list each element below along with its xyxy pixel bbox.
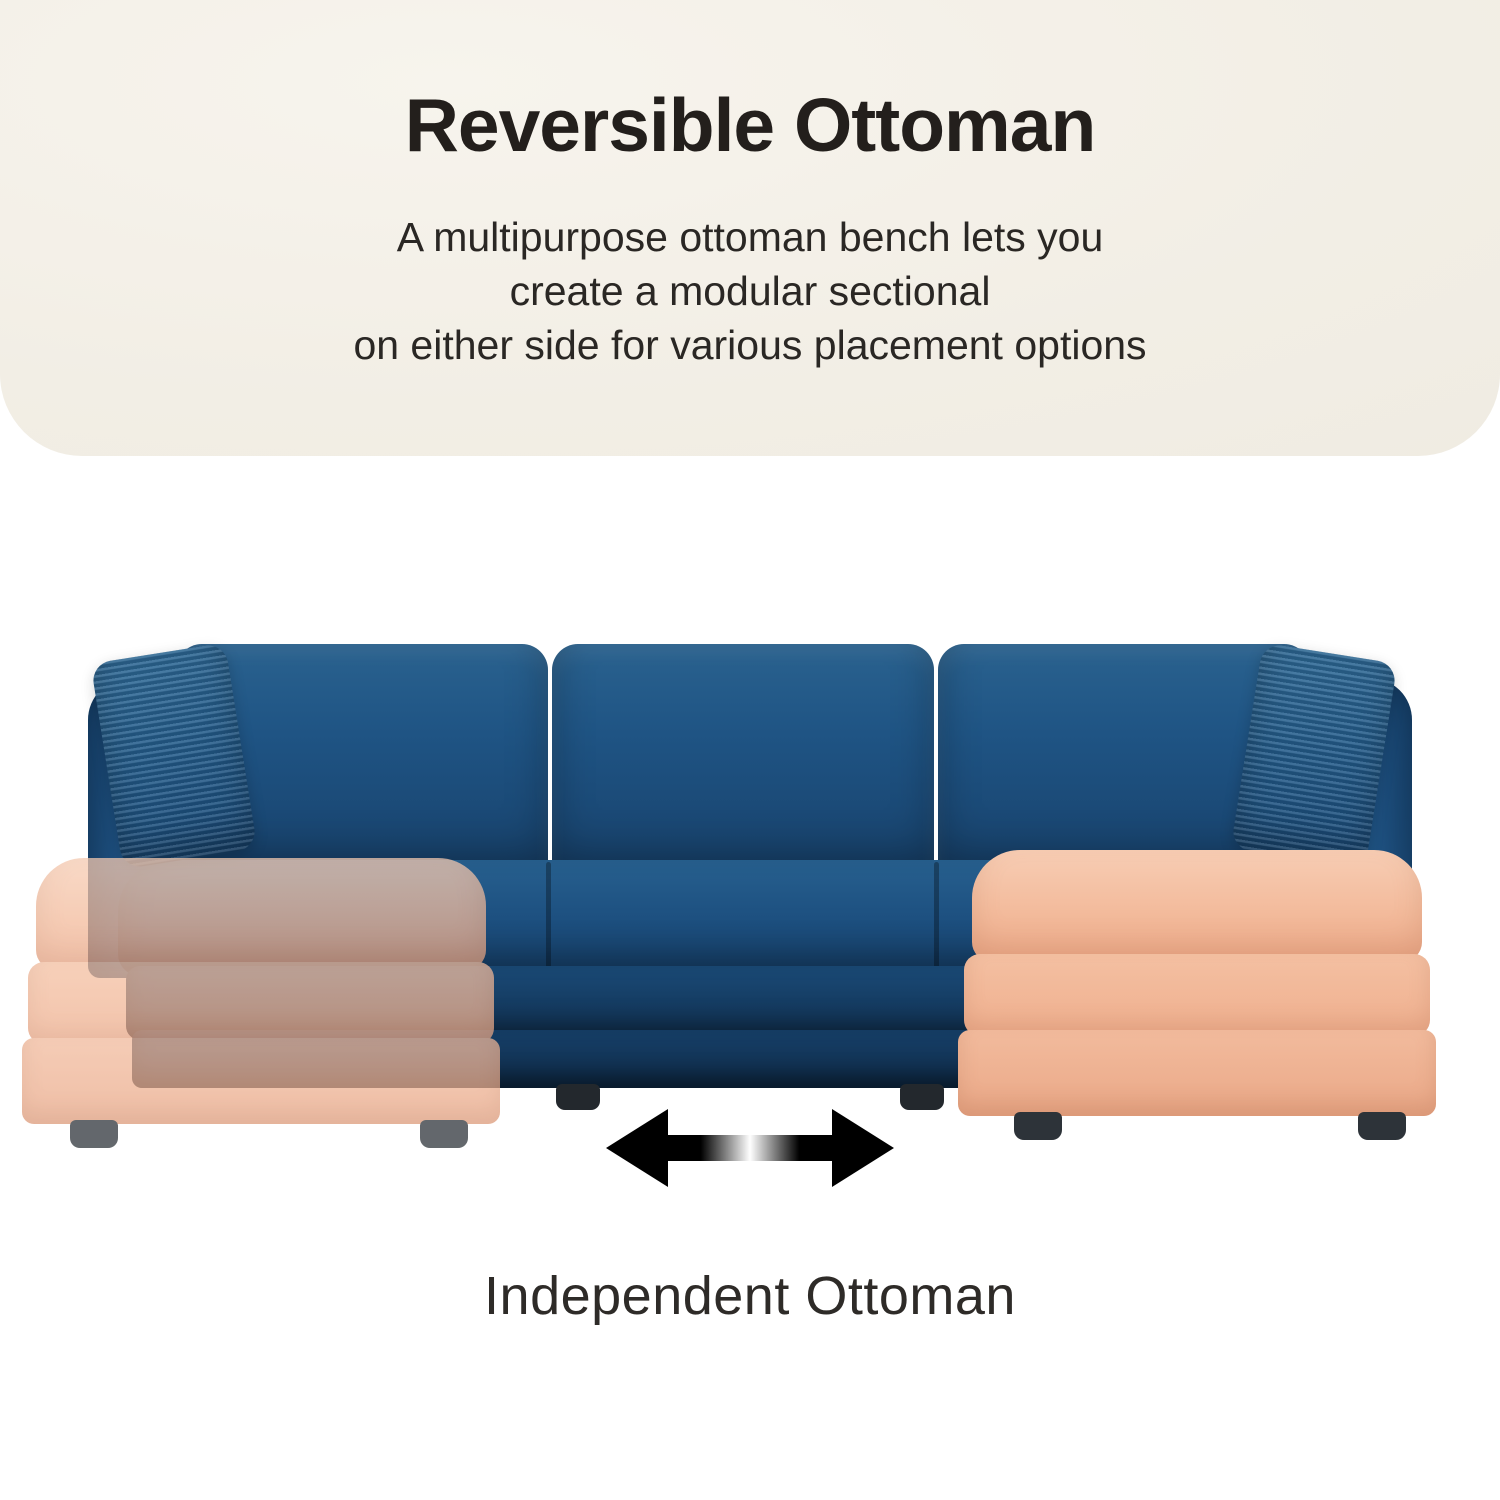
page-title: Reversible Ottoman bbox=[0, 86, 1500, 165]
arrow-head-left-icon bbox=[606, 1109, 668, 1187]
sofa-back-cushion-center bbox=[552, 644, 934, 880]
ottoman-mid-band bbox=[28, 962, 494, 1044]
ottoman-foot-left bbox=[1014, 1112, 1062, 1140]
page-subtitle: A multipurpose ottoman bench lets you cr… bbox=[0, 210, 1500, 372]
ottoman-base bbox=[22, 1038, 500, 1124]
reversible-direction-arrow-icon bbox=[600, 1103, 900, 1193]
sofa-foot-right bbox=[900, 1084, 944, 1110]
subtitle-line-2: create a modular sectional bbox=[0, 264, 1500, 318]
ottoman-left bbox=[22, 858, 500, 1158]
sofa-foot-left bbox=[556, 1084, 600, 1110]
subtitle-line-1: A multipurpose ottoman bench lets you bbox=[0, 210, 1500, 264]
ottoman-base bbox=[958, 1030, 1436, 1116]
product-caption: Independent Ottoman bbox=[0, 1265, 1500, 1327]
sofa-seat-seam-right bbox=[934, 862, 939, 974]
ottoman-mid-band bbox=[964, 954, 1430, 1036]
arrow-shaft bbox=[662, 1135, 838, 1161]
ottoman-foot-right bbox=[1358, 1112, 1406, 1140]
arrow-head-right-icon bbox=[832, 1109, 894, 1187]
sofa-seat-seam-left bbox=[546, 862, 551, 974]
ottoman-top-cushion bbox=[36, 858, 486, 970]
ottoman-foot-right bbox=[420, 1120, 468, 1148]
ottoman-right bbox=[958, 850, 1436, 1150]
ottoman-foot-left bbox=[70, 1120, 118, 1148]
subtitle-line-3: on either side for various placement opt… bbox=[0, 318, 1500, 372]
header-panel: Reversible Ottoman A multipurpose ottoma… bbox=[0, 0, 1500, 456]
ottoman-top-cushion bbox=[972, 850, 1422, 962]
